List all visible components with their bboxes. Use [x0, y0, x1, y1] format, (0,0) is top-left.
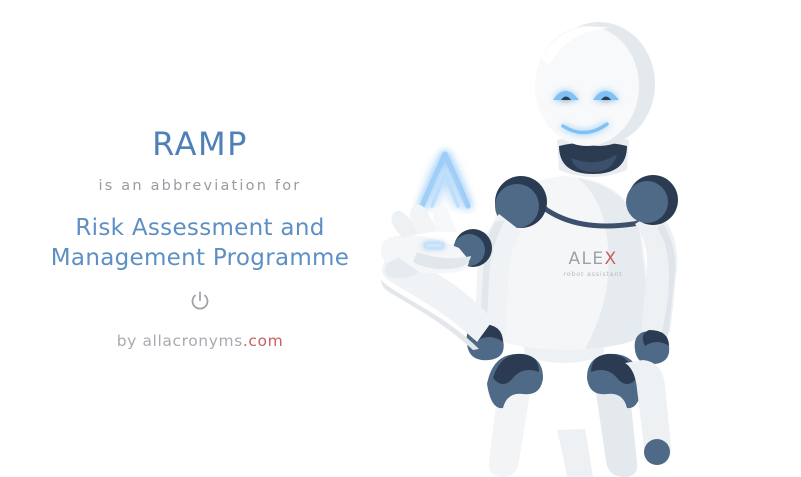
attribution[interactable]: by allacronyms.com — [117, 334, 284, 350]
attribution-site-tld: .com — [243, 332, 283, 350]
attribution-by-label: by — [117, 332, 137, 350]
robot-head — [535, 22, 655, 146]
acronym-expansion-line-2: Management Programme — [20, 243, 380, 274]
attribution-site-name: allacronyms — [142, 332, 242, 350]
abbreviation-label: is an abbreviation for — [99, 179, 302, 194]
acronym-text-block: RAMP is an abbreviation for Risk Assessm… — [0, 0, 400, 477]
acronym-expansion: Risk Assessment and Management Programme — [20, 213, 380, 274]
robot-name-text: ALEX — [568, 249, 617, 269]
power-icon — [189, 290, 211, 312]
robot-chest-label: ALEX robot assistant — [564, 249, 623, 278]
robot-illustration: ALEX robot assistant — [381, 0, 801, 477]
acronym-expansion-line-1: Risk Assessment and — [20, 213, 380, 244]
robot-subtitle-text: robot assistant — [564, 270, 623, 278]
acronym-definition-page: RAMP is an abbreviation for Risk Assessm… — [0, 0, 801, 477]
acronym-title: RAMP — [152, 128, 248, 160]
